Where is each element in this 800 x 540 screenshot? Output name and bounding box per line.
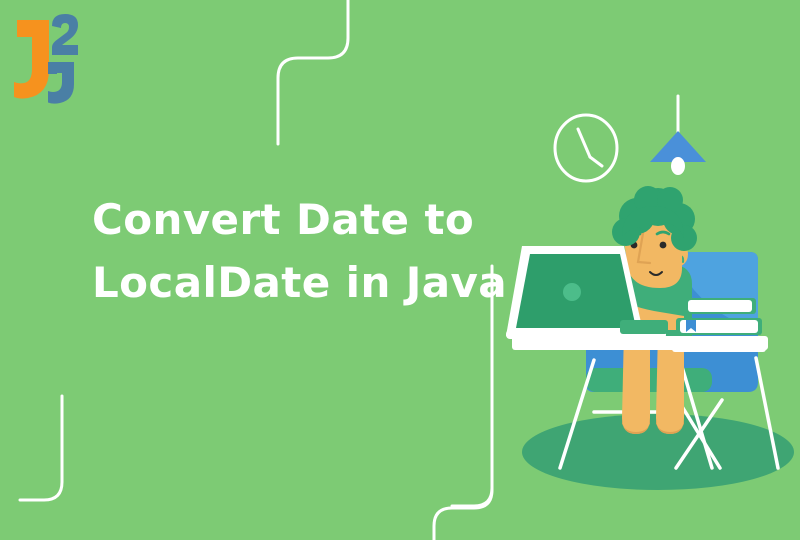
illustration (0, 0, 800, 540)
lamp-bulb (671, 157, 685, 175)
pendant-lamp (650, 96, 706, 175)
laptop-logo-dot (563, 283, 581, 301)
wall-clock (555, 115, 617, 181)
clock-minute-hand (590, 157, 602, 166)
clock-hour-hand (578, 129, 590, 157)
book-top (688, 300, 752, 312)
laptop-hand-rest (620, 320, 668, 334)
banner: Convert Date to LocalDate in Java (0, 0, 800, 540)
eye-right (660, 242, 667, 249)
